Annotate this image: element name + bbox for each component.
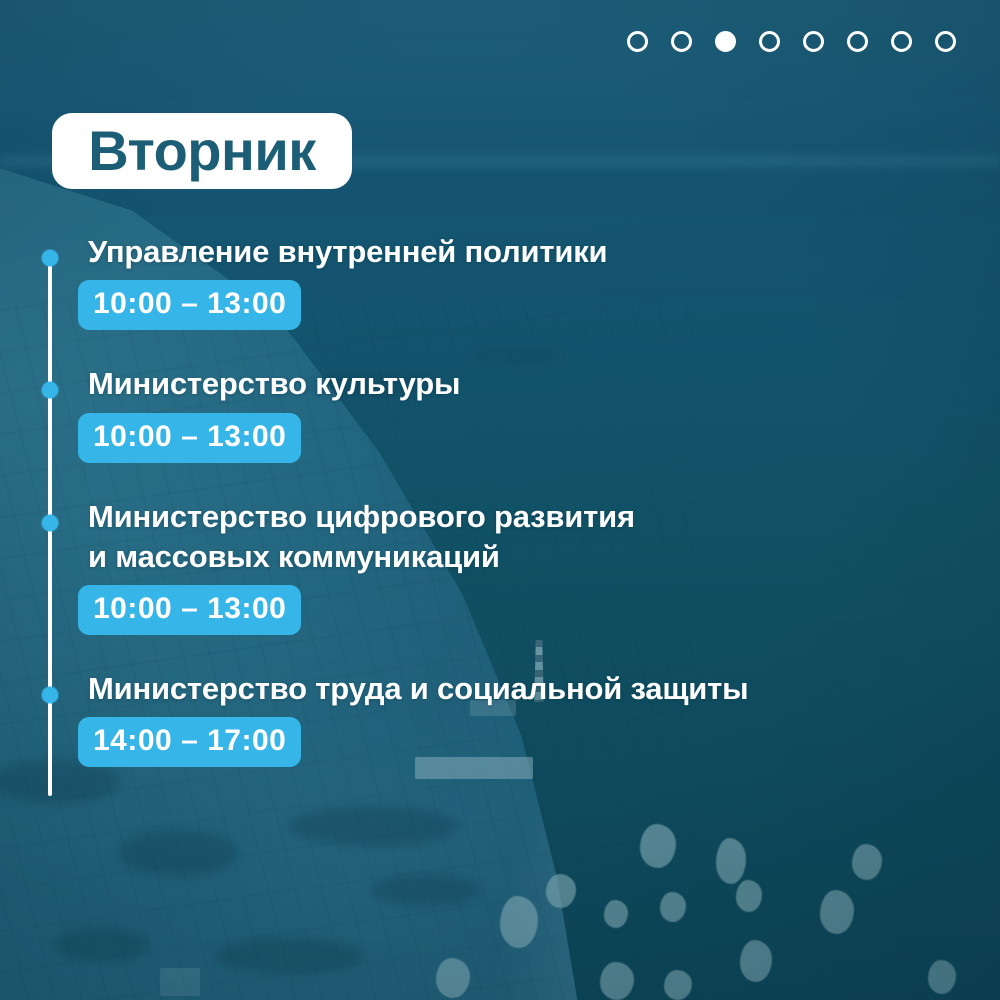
day-title-pill: Вторник bbox=[52, 113, 352, 189]
slide-dot[interactable] bbox=[935, 31, 956, 52]
schedule-item: Министерство культуры10:00 – 13:00 bbox=[0, 364, 1000, 462]
timeline-bullet-icon bbox=[42, 687, 58, 703]
slide-root: Вторник Управление внутренней политики10… bbox=[0, 0, 1000, 1000]
schedule-item-title: Управление внутренней политики bbox=[88, 232, 1000, 272]
schedule-item-title-line: Управление внутренней политики bbox=[88, 232, 1000, 272]
page-title: Вторник bbox=[88, 123, 316, 179]
slide-dots[interactable] bbox=[627, 31, 956, 52]
schedule-item-title: Министерство труда и социальной защиты bbox=[88, 669, 1000, 709]
schedule-item: Управление внутренней политики10:00 – 13… bbox=[0, 232, 1000, 330]
timeline-bullet-icon bbox=[42, 250, 58, 266]
slide-dot[interactable] bbox=[847, 31, 868, 52]
schedule-item-title-line: Министерство труда и социальной защиты bbox=[88, 669, 1000, 709]
timeline-bullet-icon bbox=[42, 382, 58, 398]
schedule-list: Управление внутренней политики10:00 – 13… bbox=[0, 232, 1000, 801]
schedule-item-title: Министерство культуры bbox=[88, 364, 1000, 404]
schedule-item-title: Министерство цифрового развитияи массовы… bbox=[88, 497, 1000, 578]
slide-dot[interactable] bbox=[627, 31, 648, 52]
slide-dot[interactable] bbox=[891, 31, 912, 52]
schedule-item-time-badge: 10:00 – 13:00 bbox=[78, 585, 301, 635]
schedule-item-title-line: Министерство цифрового развития bbox=[88, 497, 1000, 537]
schedule-item: Министерство цифрового развитияи массовы… bbox=[0, 497, 1000, 636]
slide-dot[interactable] bbox=[803, 31, 824, 52]
schedule-item-time-badge: 10:00 – 13:00 bbox=[78, 280, 301, 330]
schedule-item-title-line: и массовых коммуникаций bbox=[88, 537, 1000, 577]
schedule-item: Министерство труда и социальной защиты14… bbox=[0, 669, 1000, 767]
schedule-item-time-badge: 10:00 – 13:00 bbox=[78, 413, 301, 463]
slide-dot[interactable] bbox=[671, 31, 692, 52]
timeline-bullet-icon bbox=[42, 515, 58, 531]
slide-dot[interactable] bbox=[759, 31, 780, 52]
slide-dot-active[interactable] bbox=[715, 31, 736, 52]
schedule-item-time-badge: 14:00 – 17:00 bbox=[78, 717, 301, 767]
schedule-item-title-line: Министерство культуры bbox=[88, 364, 1000, 404]
